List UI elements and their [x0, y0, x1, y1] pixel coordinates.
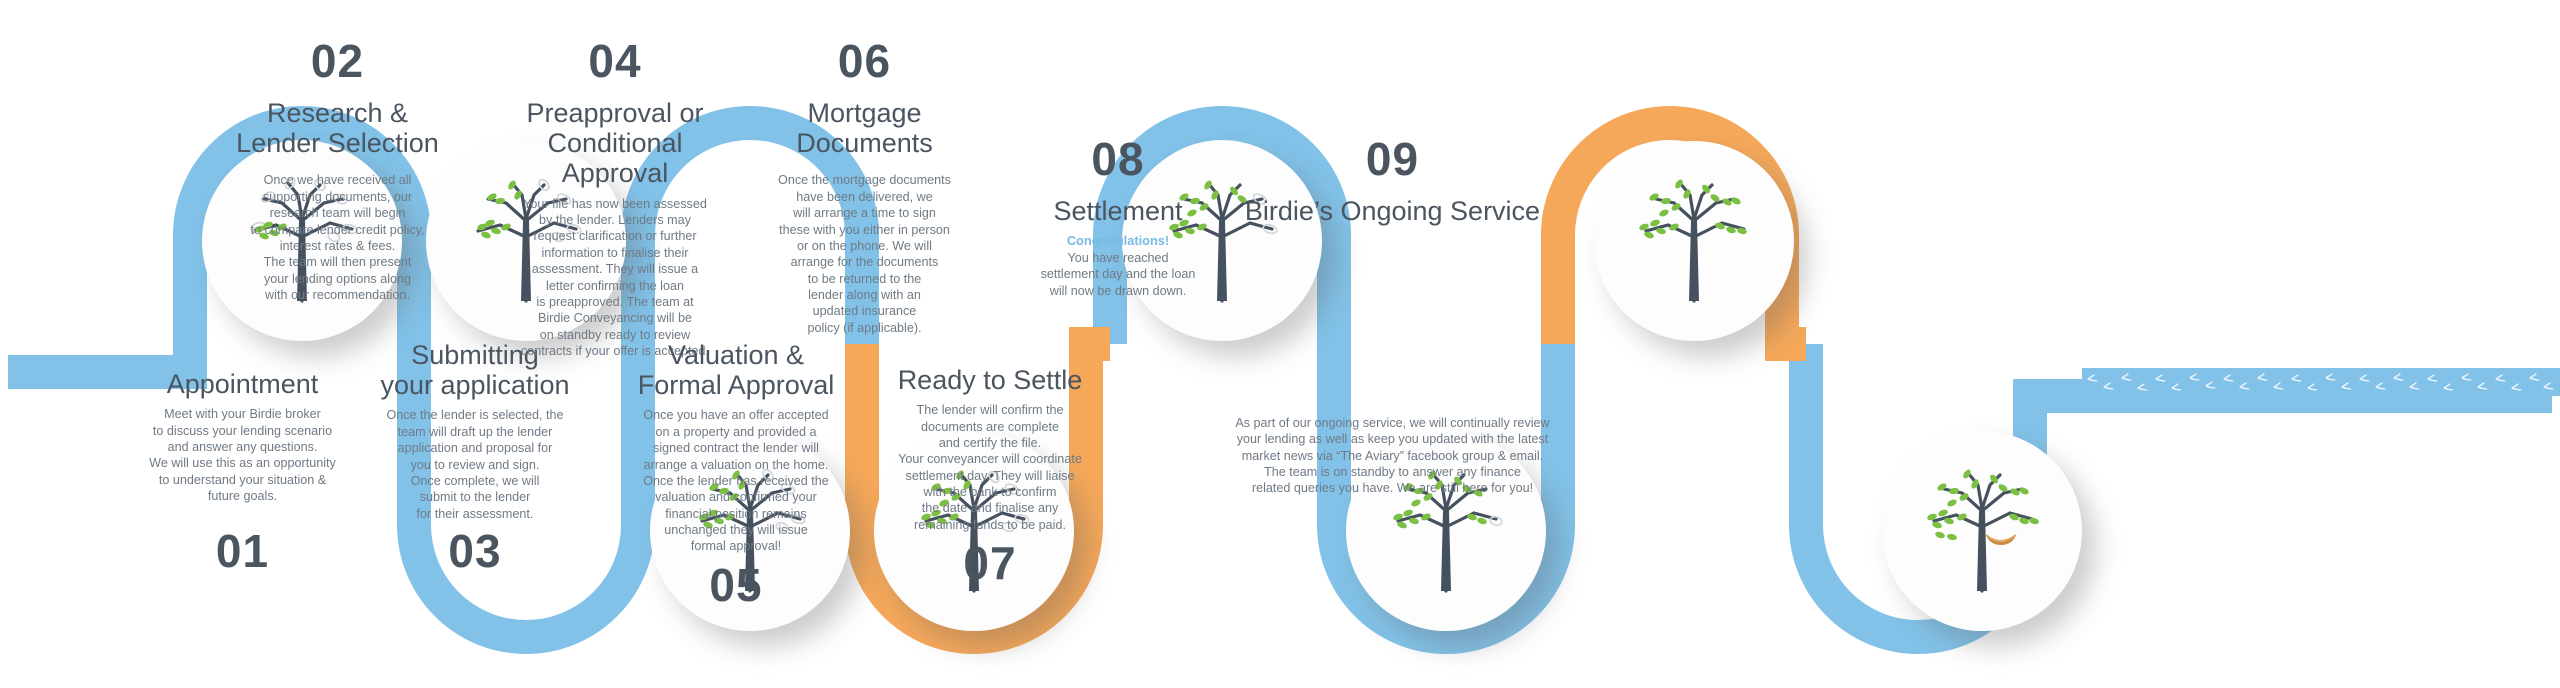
- bird-nest-icon: [1986, 535, 2016, 545]
- step-6-title: Mortgage Documents: [722, 98, 1007, 158]
- step-3-text: Submitting your application Once the len…: [330, 340, 620, 522]
- step-4-body: Your file has now been assessed by the l…: [465, 196, 765, 360]
- step-4-text: 04 Preapproval or Conditional Approval Y…: [465, 38, 765, 359]
- step-9-number: 09: [1225, 136, 1560, 182]
- step-5-text: Valuation & Formal Approval Once you hav…: [586, 340, 886, 608]
- step-5-body: Once you have an offer accepted on a pro…: [586, 407, 886, 554]
- step-9-title: Birdie’s Ongoing Service: [1225, 196, 1560, 226]
- step-6-text: 06 Mortgage Documents Once the mortgage …: [722, 38, 1007, 336]
- step-3-number-wrap: 03: [330, 528, 620, 574]
- step-9-body: As part of our ongoing service, we will …: [1225, 415, 1560, 497]
- step-7-title: Ready to Settle: [845, 365, 1135, 395]
- step-5-number: 05: [586, 562, 886, 608]
- step-7-medallion: [1594, 141, 1794, 341]
- step-2-title: Research & Lender Selection: [200, 98, 475, 158]
- step-4-title: Preapproval or Conditional Approval: [465, 98, 765, 189]
- step-8-title: Settlement: [983, 196, 1253, 226]
- step-7-body: The lender will confirm the documents ar…: [845, 402, 1135, 533]
- step-8-congratulations: Congratulations!: [983, 233, 1253, 250]
- flying-birds-band: [2082, 368, 2560, 396]
- step-8-text: 08 Settlement Congratulations! You have …: [983, 136, 1253, 299]
- step-7-number: 07: [845, 540, 1135, 586]
- step-5-title: Valuation & Formal Approval: [586, 340, 886, 400]
- step-2-number: 02: [200, 38, 475, 84]
- step-7-text: Ready to Settle The lender will confirm …: [845, 365, 1135, 586]
- step-2-text: 02 Research & Lender Selection Once we h…: [200, 38, 475, 303]
- step-6-number: 06: [722, 38, 1007, 84]
- step-9-body-wrap: As part of our ongoing service, we will …: [1225, 415, 1560, 497]
- step-3-number: 03: [330, 528, 620, 574]
- step-8-body: You have reached settlement day and the …: [983, 250, 1253, 299]
- step-2-body: Once we have received all supporting doc…: [200, 172, 475, 303]
- step-6-body: Once the mortgage documents have been de…: [722, 172, 1007, 336]
- step-8-number: 08: [983, 136, 1253, 182]
- leafy-tree-icon: [1594, 141, 1794, 341]
- infographic-canvas: Appointment Meet with your Birdie broker…: [0, 0, 2560, 688]
- nesting-tree-icon: [1882, 431, 2082, 631]
- step-8-medallion: [1882, 431, 2082, 631]
- step-4-number: 04: [465, 38, 765, 84]
- step-3-body: Once the lender is selected, the team wi…: [330, 407, 620, 522]
- step-9-text: 09 Birdie’s Ongoing Service: [1225, 136, 1560, 226]
